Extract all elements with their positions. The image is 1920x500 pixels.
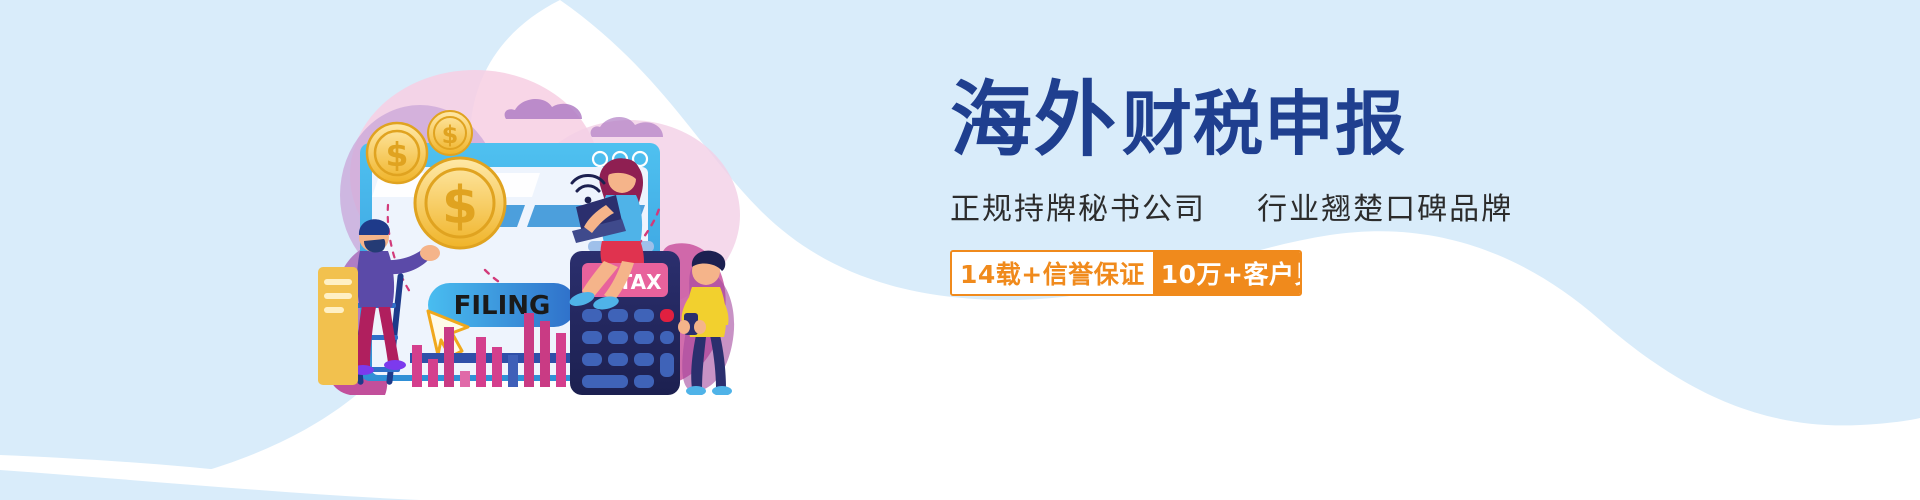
coin-icon-medium: $	[367, 123, 427, 183]
page-title: 海外 财税申报	[950, 70, 1570, 162]
coin-icon-small: $	[428, 111, 472, 155]
badge-group: 14载+信誉保证 10万+客户见证	[950, 250, 1302, 296]
finance-illustration: $ $ $	[300, 55, 760, 395]
svg-text:$: $	[442, 121, 459, 149]
cloud-icon-2	[591, 117, 663, 137]
filing-button-label: FILING	[454, 291, 551, 321]
svg-text:$: $	[386, 135, 409, 174]
copy-block: 海外 财税申报 正规持牌秘书公司 行业翘楚口碑品牌 14载+信誉保证 10万+客…	[950, 70, 1570, 296]
status-badge-clients: 10万+客户见证	[1153, 252, 1302, 294]
document-folder-icon	[318, 267, 358, 385]
svg-text:$: $	[442, 176, 478, 236]
promo-banner: $ $ $	[0, 0, 1920, 500]
headline-part-a: 海外	[950, 80, 1118, 162]
subtitle: 正规持牌秘书公司 行业翘楚口碑品牌	[950, 184, 1570, 228]
subtitle-right: 行业翘楚口碑品牌	[1257, 192, 1513, 227]
status-badge-experience: 14载+信誉保证	[952, 252, 1153, 294]
subtitle-left: 正规持牌秘书公司	[950, 192, 1206, 227]
headline-part-b: 财税申报	[1122, 89, 1406, 162]
coin-icon-large: $	[415, 158, 505, 248]
